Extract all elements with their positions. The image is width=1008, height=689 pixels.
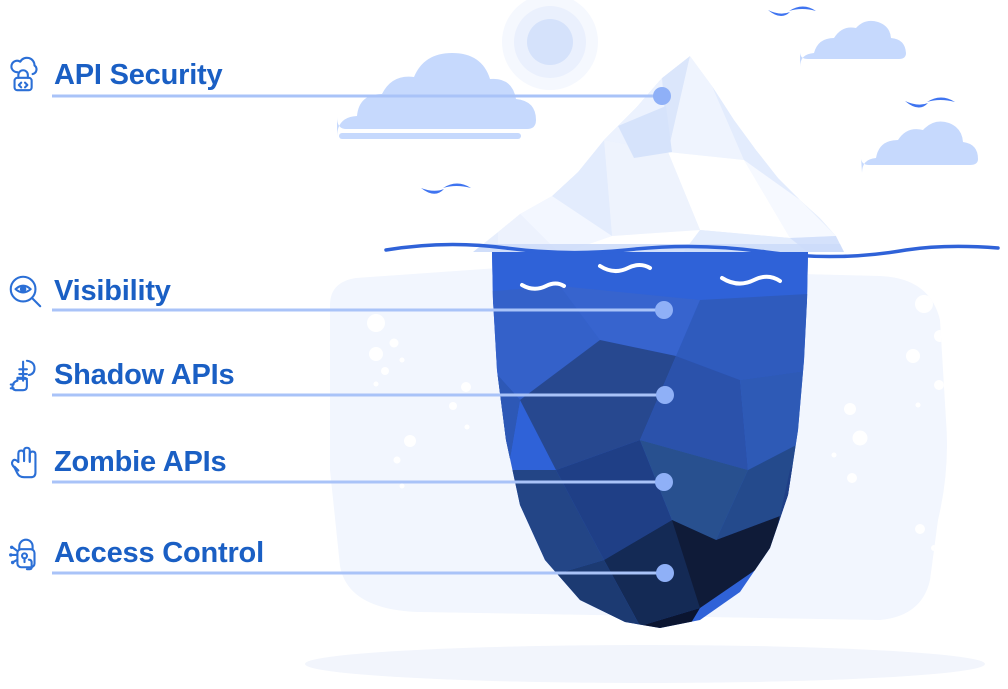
label-access-control[interactable]: Access Control — [6, 534, 264, 572]
eye-magnifier-icon — [6, 272, 44, 310]
label-visibility[interactable]: Visibility — [6, 272, 171, 310]
label-text-visibility: Visibility — [54, 277, 171, 306]
label-text-access-control: Access Control — [54, 539, 264, 568]
label-text-zombie-apis: Zombie APIs — [54, 448, 226, 477]
zombie-hand-icon — [6, 443, 44, 481]
cloud-lock-code-icon — [6, 56, 44, 94]
labels-layer: API Security Visibility Shadow APIs — [0, 0, 1008, 689]
label-shadow-apis[interactable]: Shadow APIs — [6, 356, 234, 394]
fingerprint-lock-icon — [6, 534, 44, 572]
shadow-hand-icon — [6, 356, 44, 394]
label-zombie-apis[interactable]: Zombie APIs — [6, 443, 226, 481]
label-text-api-security: API Security — [54, 61, 222, 90]
label-text-shadow-apis: Shadow APIs — [54, 361, 234, 390]
label-api-security[interactable]: API Security — [6, 56, 222, 94]
iceberg-infographic: API Security Visibility Shadow APIs — [0, 0, 1008, 689]
